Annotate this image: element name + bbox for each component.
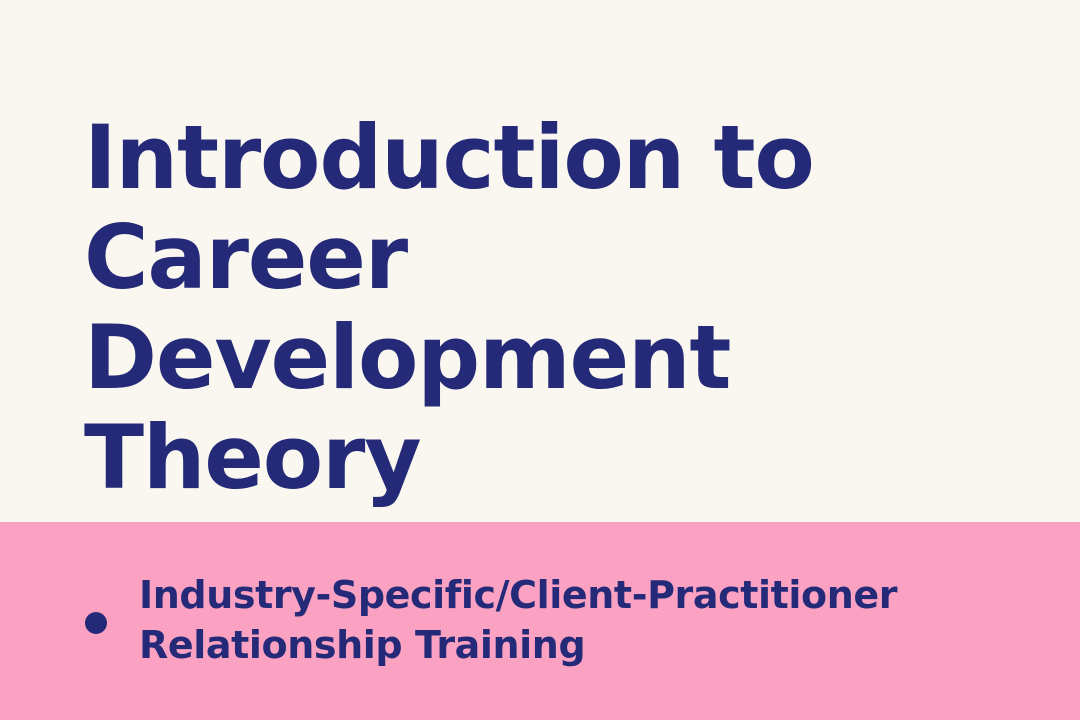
bullet-point-icon xyxy=(85,612,107,634)
bullet-list: Industry-Specific/Client-Practitioner Re… xyxy=(0,0,1080,198)
presentation-slide: Introduction to Career Development Theor… xyxy=(0,0,1080,720)
bullet-item-label: Industry-Specific/Client-Practitioner Re… xyxy=(139,570,999,670)
